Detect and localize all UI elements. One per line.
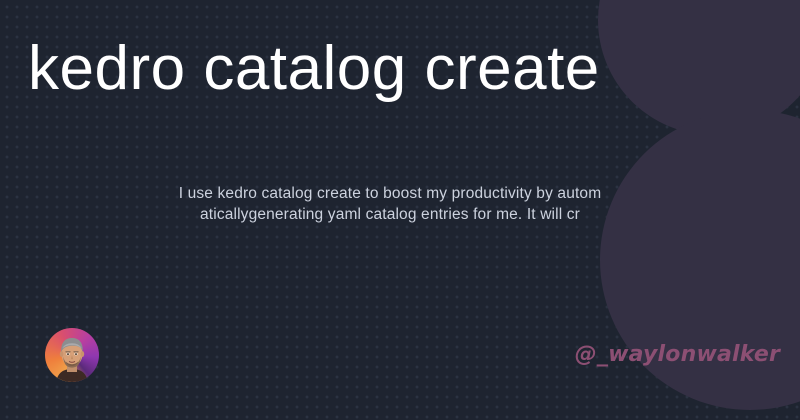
page-title: kedro catalog create: [28, 36, 768, 102]
social-share-card: kedro catalog create I use kedro catalog…: [0, 0, 800, 420]
author-handle: @_waylonwalker: [500, 342, 780, 367]
card-description: I use kedro catalog create to boost my p…: [100, 183, 680, 225]
avatar: [45, 328, 99, 382]
card-content: kedro catalog create I use kedro catalog…: [0, 0, 800, 420]
avatar-photo-icon: [45, 328, 99, 382]
